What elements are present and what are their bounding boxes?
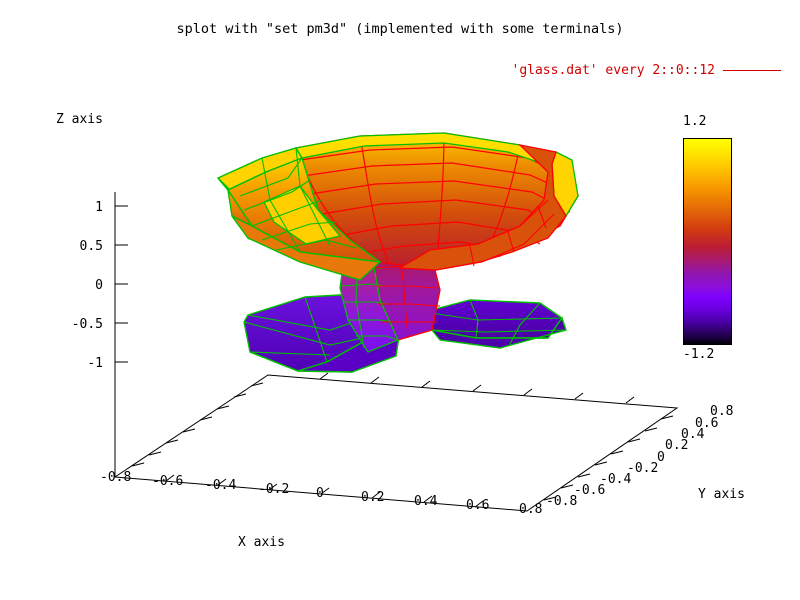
surface-bowl	[218, 133, 578, 280]
z-axis-ticks	[115, 206, 128, 362]
gnuplot-window: splot with "set pm3d" (implemented with …	[0, 0, 800, 600]
y-axis-ticks	[132, 383, 673, 500]
plot-canvas	[0, 0, 800, 600]
